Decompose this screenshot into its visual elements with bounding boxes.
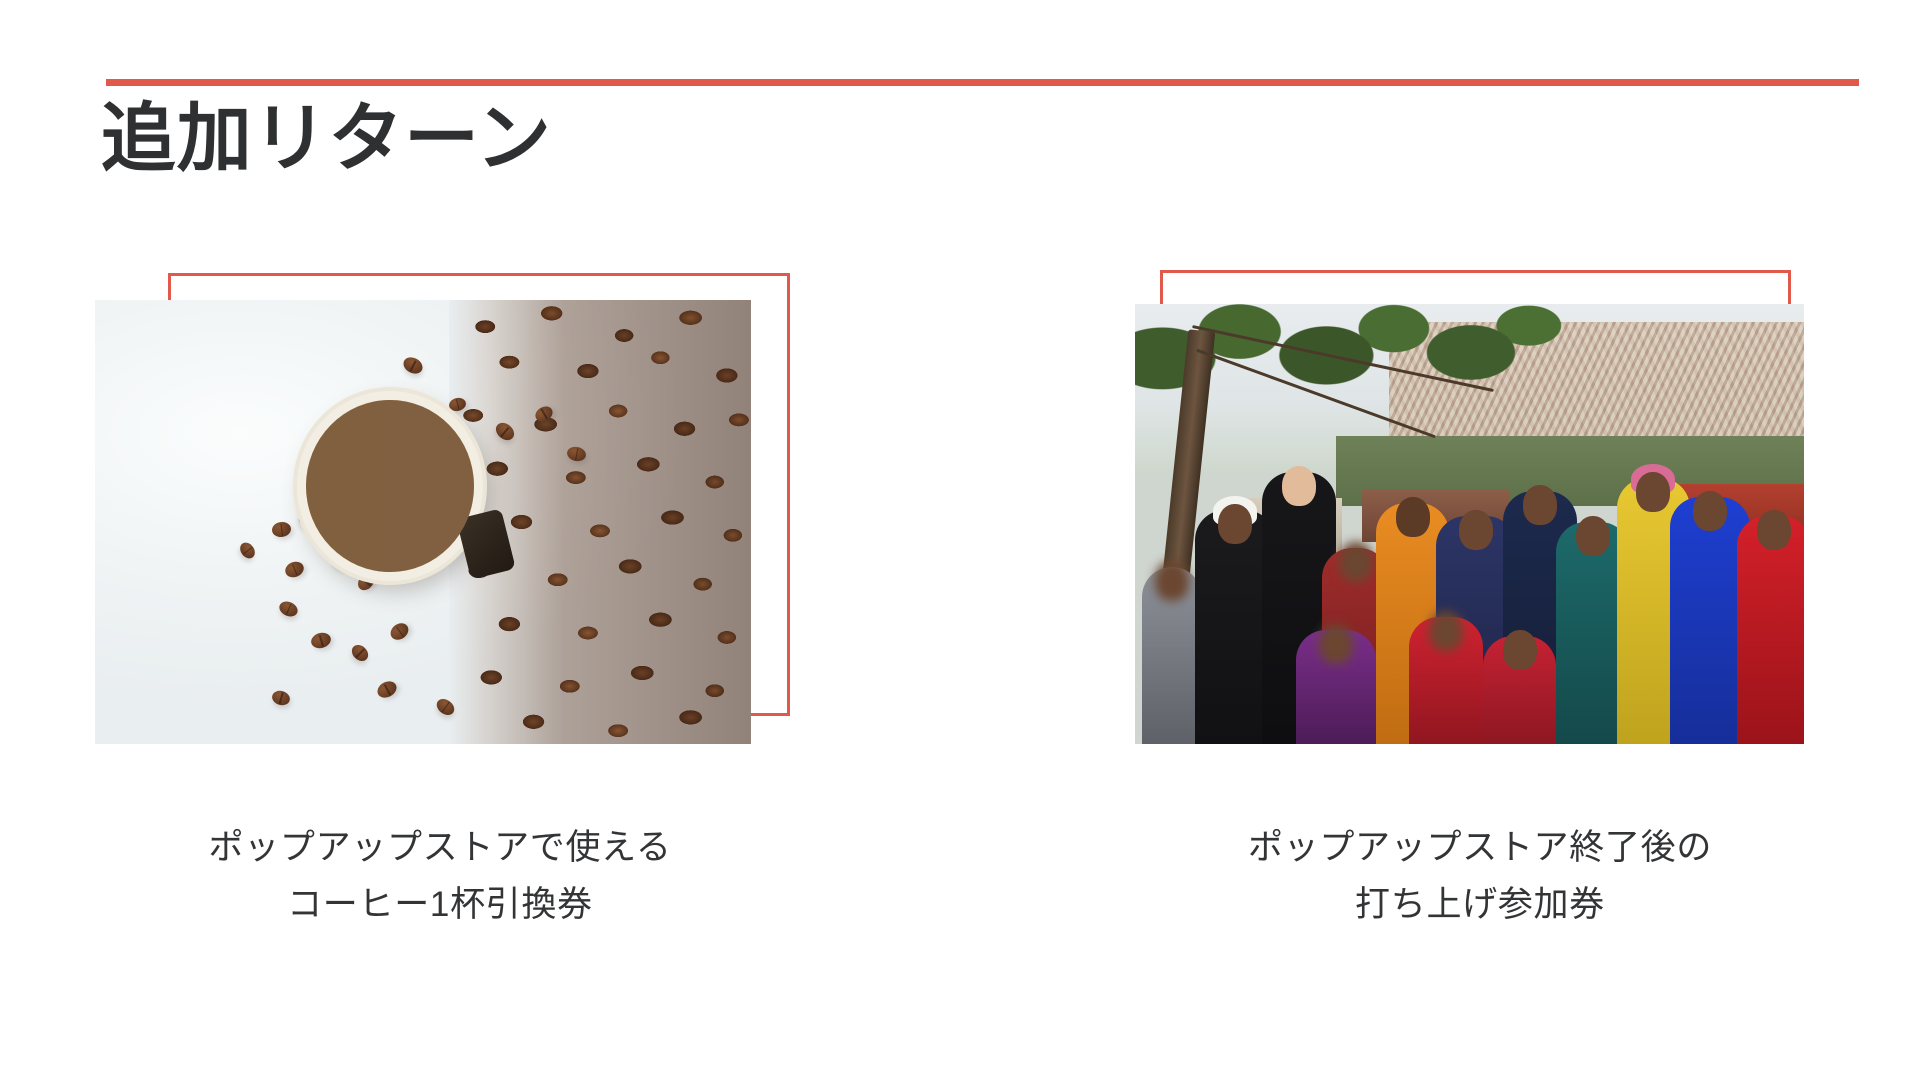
photo-coffee-cup: [95, 300, 751, 744]
caption-line-1: ポップアップストアで使える: [60, 820, 820, 877]
caption-line-2: コーヒー1杯引換券: [60, 877, 820, 934]
photo-group-rwanda: [1135, 304, 1804, 744]
caption-line-2: 打ち上げ参加券: [1100, 877, 1860, 934]
group-of-people: [1135, 427, 1804, 744]
return-card-coffee-ticket[interactable]: ポップアップストアで使える コーヒー1杯引換券: [60, 0, 820, 1080]
media-after-party-ticket: [1100, 260, 1800, 780]
card-caption-coffee-ticket: ポップアップストアで使える コーヒー1杯引換券: [60, 820, 820, 933]
return-card-after-party-ticket[interactable]: ポップアップストア終了後の 打ち上げ参加券: [1100, 0, 1860, 1080]
card-caption-after-party-ticket: ポップアップストア終了後の 打ち上げ参加券: [1100, 820, 1860, 933]
media-coffee-ticket: [60, 260, 760, 780]
slide-root: 追加リターン: [0, 0, 1920, 1080]
coffee-cup: [297, 391, 483, 581]
return-cards: ポップアップストアで使える コーヒー1杯引換券: [0, 0, 1920, 1080]
caption-line-1: ポップアップストア終了後の: [1100, 820, 1860, 877]
